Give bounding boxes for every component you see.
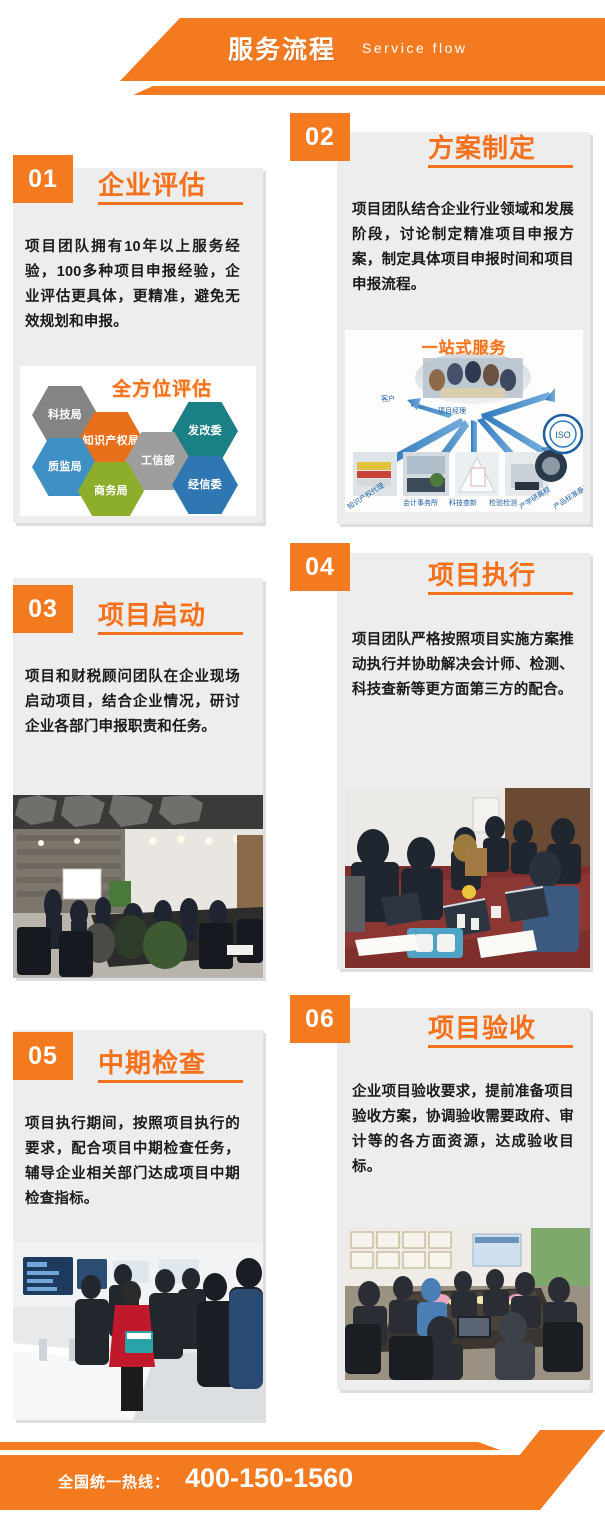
photo-working-session-graphic <box>345 788 590 968</box>
hex-node-label: 商务局 <box>94 485 128 498</box>
step-number-03: 03 <box>13 585 73 633</box>
photo-meeting-room-graphic <box>13 795 263 978</box>
photo-working-session <box>345 788 590 968</box>
step-body-05: 项目执行期间，按照项目执行的要求，配合项目中期检查任务，辅导企业相关部门达成项目… <box>25 1112 240 1212</box>
photo-conference-room-graphic <box>345 1228 590 1380</box>
step-title-underline-06 <box>428 1045 573 1048</box>
photo-service-counter <box>13 1243 263 1420</box>
step-body-04: 项目团队严格按照项目实施方案推动执行并协助解决会计师、检测、科技查新等更方面第三… <box>352 628 574 703</box>
page-title: 服务流程 <box>228 30 336 66</box>
photo-conference-room <box>345 1228 590 1380</box>
step-title-underline-03 <box>98 632 243 635</box>
footer-orange-stripe <box>0 1442 500 1450</box>
step-title-06: 项目验收 <box>428 1008 536 1045</box>
step-title-01: 企业评估 <box>98 165 206 202</box>
step-number-01: 01 <box>13 155 73 203</box>
step-body-03: 项目和财税顾问团队在企业现场启动项目，结合企业情况，研讨企业各部门申报职责和任务… <box>25 665 240 740</box>
step-body-02: 项目团队结合企业行业领域和发展阶段，讨论制定精准项目申报方案，制定具体项目申报时… <box>352 198 574 298</box>
oss-branch-label-2: 会计事务所 <box>403 498 438 508</box>
page-subtitle: Service flow <box>362 40 467 56</box>
svg-text:ISO: ISO <box>555 430 571 440</box>
oss-branch-label-4: 检验检测 <box>489 498 517 508</box>
step-title-04: 项目执行 <box>428 555 536 592</box>
step-number-06: 06 <box>290 995 350 1043</box>
step-title-03: 项目启动 <box>98 595 206 632</box>
service-flow-infographic: 服务流程 Service flow 01 企业评估 项目团队拥有10年以上服务经… <box>0 0 605 1538</box>
oss-branch-label-3: 科技查新 <box>449 498 477 508</box>
step-title-05: 中期检查 <box>98 1043 206 1080</box>
step-number-05: 05 <box>13 1032 73 1080</box>
step-title-underline-04 <box>428 592 573 595</box>
hex-diagram-title: 全方位评估 <box>112 374 212 401</box>
step-title-02: 方案制定 <box>428 128 536 165</box>
step-title-underline-05 <box>98 1080 243 1083</box>
hex-node-label: 工信部 <box>141 455 175 468</box>
hotline-phone: 400-150-1560 <box>185 1463 353 1494</box>
hex-node-label: 科技局 <box>48 409 82 422</box>
step-number-02: 02 <box>290 113 350 161</box>
step-title-underline-01 <box>98 202 243 205</box>
page-footer: 全国统一热线： 400-150-1560 <box>0 1430 605 1538</box>
step-title-underline-02 <box>428 165 573 168</box>
hex-node-label: 经信委 <box>188 479 222 492</box>
step-body-06: 企业项目验收要求，提前准备项目验收方案，协调验收需要政府、审计等的各方面资源，达… <box>352 1080 574 1180</box>
header-orange-stripe <box>133 86 605 95</box>
hex-diagram: 全方位评估 科技局 知识产权局 发改委 质监局 工信部 商务局 经信委 <box>20 366 256 516</box>
page-header: 服务流程 Service flow <box>0 0 605 108</box>
photo-meeting-room <box>13 795 263 978</box>
one-stop-service-title: 一站式服务 <box>421 334 506 358</box>
step-body-01: 项目团队拥有10年以上服务经验，100多种项目申报经验，企业评估更具体，更精准，… <box>25 235 240 335</box>
hex-node-label: 知识产权局 <box>83 435 140 448</box>
hex-node-label: 发改委 <box>188 425 222 438</box>
oss-center-label: 项目经理 <box>438 406 466 416</box>
step-number-04: 04 <box>290 543 350 591</box>
hex-node-label: 质监局 <box>48 461 82 474</box>
photo-service-counter-graphic <box>13 1243 263 1420</box>
one-stop-service-diagram: 一站式服务 <box>345 330 583 512</box>
hotline-label: 全国统一热线： <box>58 1471 170 1492</box>
oss-client-label: 客户 <box>381 394 395 404</box>
